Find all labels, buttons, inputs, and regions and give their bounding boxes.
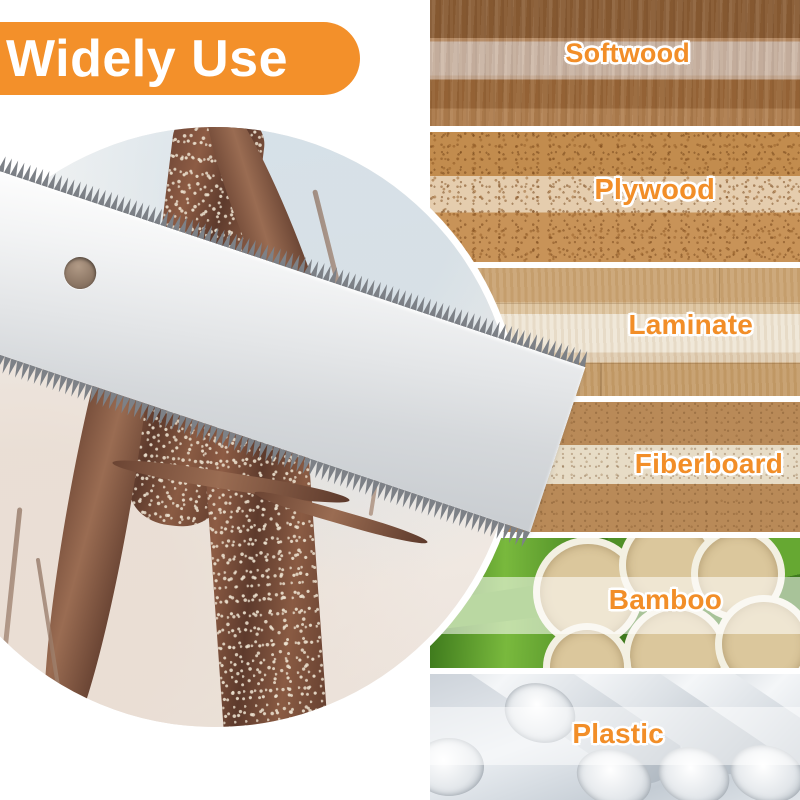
material-label-plastic: Plastic xyxy=(572,720,664,748)
material-panel-softwood: Softwood xyxy=(430,0,800,126)
material-label-plywood: Plywood xyxy=(594,176,715,205)
material-label-laminate: Laminate xyxy=(628,311,753,339)
laminate-seam-vertical xyxy=(600,363,602,396)
banner-title: Widely Use xyxy=(6,33,288,85)
saw-hanging-hole xyxy=(60,253,101,294)
material-label-bamboo: Bamboo xyxy=(609,586,722,614)
widely-use-banner: Widely Use xyxy=(0,22,360,95)
laminate-seam-vertical xyxy=(719,268,721,303)
material-label-softwood: Softwood xyxy=(565,40,690,67)
infographic-canvas: Softwood Plywood Laminate Fiberboard xyxy=(0,0,800,800)
material-label-fiberboard: Fiberboard xyxy=(635,450,783,478)
